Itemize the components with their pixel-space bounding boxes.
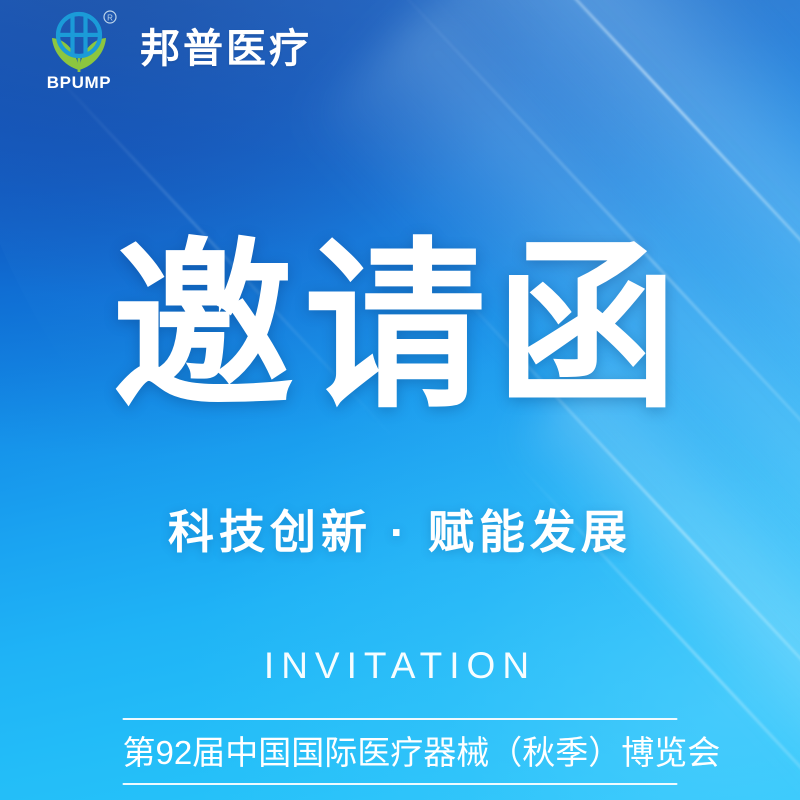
company-name: 邦普医疗 — [140, 29, 312, 69]
page-title: 邀请函 — [112, 236, 688, 418]
headline-block: 邀请函 — [0, 236, 800, 418]
event-name: 第92届中国国际医疗器械（秋季）博览会 — [123, 720, 678, 783]
slogan-block: 科技创新 · 赋能发展 — [0, 505, 800, 560]
footer-block: 第92届中国国际医疗器械（秋季）博览会 — [123, 718, 678, 785]
brand-header: R BPUMP 邦普医疗 — [40, 8, 312, 90]
svg-text:R: R — [107, 13, 113, 22]
registered-mark-icon: R — [104, 11, 116, 23]
logo-wordmark: BPUMP — [47, 73, 111, 90]
invitation-english-block: INVITATION — [0, 645, 800, 687]
bpump-flower-logo: R BPUMP — [40, 8, 118, 90]
circle-grid-emblem — [58, 14, 100, 56]
slogan-text: 科技创新 · 赋能发展 — [168, 506, 632, 558]
footer-rule-bottom — [123, 783, 678, 785]
invitation-english-text: INVITATION — [264, 645, 536, 686]
invitation-poster: R BPUMP 邦普医疗 邀请函 科技创新 · 赋能发展 INVITATION … — [0, 0, 800, 800]
